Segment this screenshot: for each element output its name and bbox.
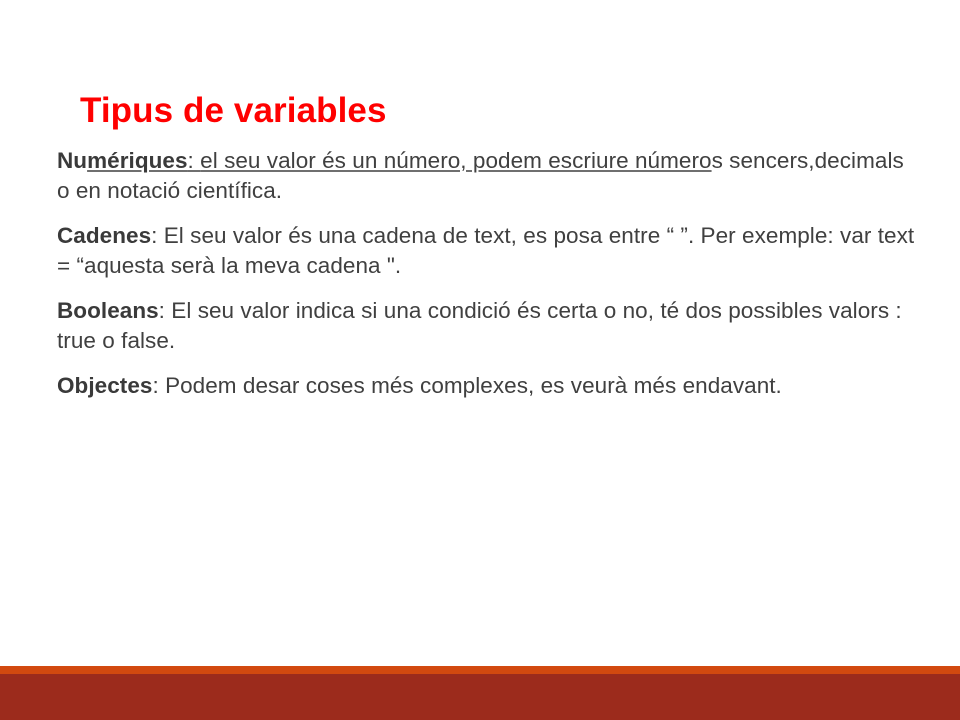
bullet-separator: : <box>159 298 172 323</box>
bullet-lead-booleans: Booleans <box>57 298 159 323</box>
list-item: Objectes: Podem desar coses més complexe… <box>57 371 917 401</box>
bullet-body: El seu valor és una cadena de text, es p… <box>57 223 914 278</box>
bullet-lead-underlined: mériques <box>87 148 187 173</box>
slide-canvas: Tipus de variables Numériques: el seu va… <box>0 0 960 720</box>
list-item: Booleans: El seu valor indica si una con… <box>57 296 917 355</box>
bullet-lead-cadenes: Cadenes <box>57 223 151 248</box>
page-title: Tipus de variables <box>80 89 910 133</box>
slide-body: Numériques: el seu valor és un número, p… <box>57 146 917 401</box>
footer-accent-band <box>0 666 960 674</box>
bullet-body: Podem desar coses més complexes, es veur… <box>165 373 782 398</box>
bullet-body-underlined: el seu valor és un número, podem escriur… <box>200 148 711 173</box>
bullet-separator: : <box>151 223 164 248</box>
bullet-body: El seu valor indica si una condició és c… <box>57 298 902 353</box>
list-item: Cadenes: El seu valor és una cadena de t… <box>57 221 917 280</box>
bullet-lead-objectes: Objectes <box>57 373 152 398</box>
bullet-lead-prefix: Nu <box>57 148 87 173</box>
bullet-lead-numeriques: Numériques <box>57 148 188 173</box>
list-item: Numériques: el seu valor és un número, p… <box>57 146 917 205</box>
bullet-separator: : <box>152 373 165 398</box>
bullet-separator: : <box>188 148 201 173</box>
footer-band <box>0 674 960 720</box>
